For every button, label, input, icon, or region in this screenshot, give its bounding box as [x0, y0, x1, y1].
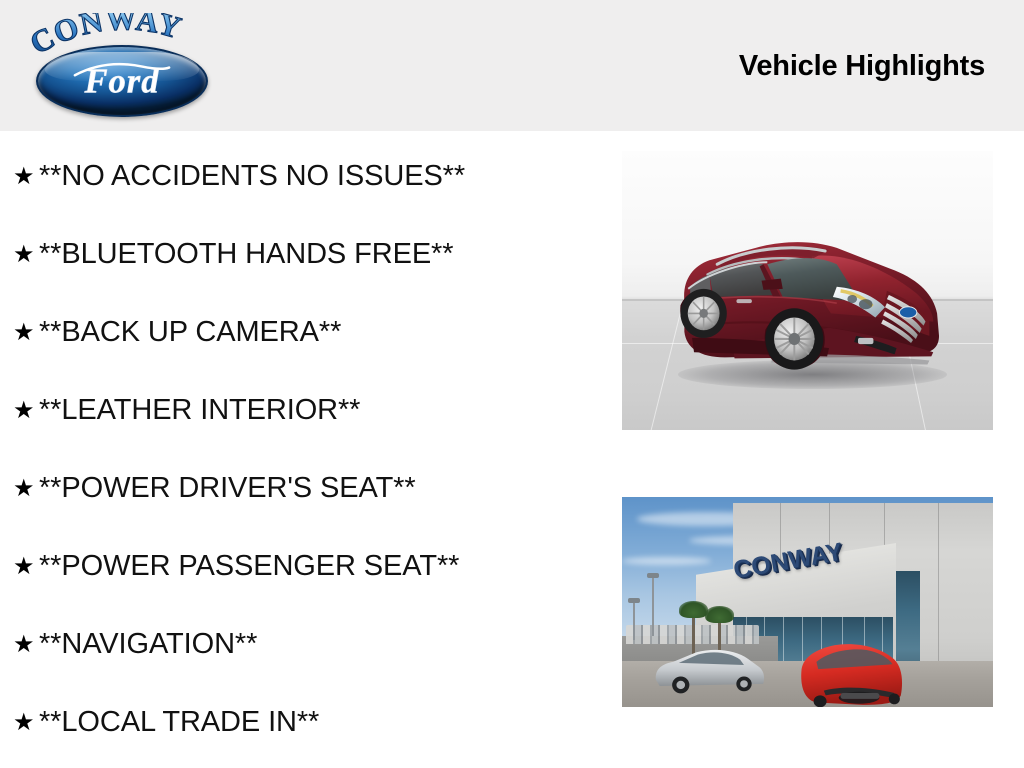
highlight-label: **BLUETOOTH HANDS FREE**	[39, 239, 453, 271]
list-item: ★ **BLUETOOTH HANDS FREE**	[0, 216, 600, 294]
star-icon: ★	[13, 477, 39, 501]
star-icon: ★	[13, 243, 39, 267]
list-item: ★ **LEATHER INTERIOR**	[0, 372, 600, 450]
star-icon: ★	[13, 555, 39, 579]
list-item: ★ **LOCAL TRADE IN**	[0, 684, 600, 762]
vehicle-photo[interactable]	[622, 151, 993, 430]
highlight-label: **NO ACCIDENTS NO ISSUES**	[39, 161, 465, 193]
ford-escape-suv	[667, 207, 956, 391]
vehicle-highlights-page: CONWAY Ford Vehicle Highlights	[0, 0, 1024, 768]
red-sedan	[796, 638, 907, 707]
highlight-label: **LEATHER INTERIOR**	[39, 395, 360, 427]
vehicle-highlights-list: ★ **NO ACCIDENTS NO ISSUES** ★ **BLUETOO…	[0, 138, 600, 762]
conway-ford-logo[interactable]: CONWAY Ford	[22, 13, 218, 117]
list-item: ★ **BACK UP CAMERA**	[0, 294, 600, 372]
list-item: ★ **NAVIGATION**	[0, 606, 600, 684]
highlight-label: **LOCAL TRADE IN**	[39, 707, 319, 739]
light-pole-icon	[633, 602, 635, 640]
svg-text:CONWAY: CONWAY	[24, 13, 186, 61]
page-content: ★ **NO ACCIDENTS NO ISSUES** ★ **BLUETOO…	[0, 131, 1024, 768]
star-icon: ★	[13, 633, 39, 657]
dealership-photo[interactable]: CONWAY	[622, 497, 993, 707]
highlight-label: **POWER PASSENGER SEAT**	[39, 551, 459, 583]
highlight-label: **POWER DRIVER'S SEAT**	[39, 473, 416, 505]
star-icon: ★	[13, 711, 39, 735]
page-header: CONWAY Ford Vehicle Highlights	[0, 0, 1024, 131]
list-item: ★ **POWER DRIVER'S SEAT**	[0, 450, 600, 528]
conway-wordmark-icon: CONWAY	[22, 13, 218, 61]
list-item: ★ **NO ACCIDENTS NO ISSUES**	[0, 138, 600, 216]
highlight-label: **BACK UP CAMERA**	[39, 317, 341, 349]
star-icon: ★	[13, 321, 39, 345]
star-icon: ★	[13, 399, 39, 423]
list-item: ★ **POWER PASSENGER SEAT**	[0, 528, 600, 606]
silver-sedan	[652, 644, 767, 694]
star-icon: ★	[13, 165, 39, 189]
light-pole-icon	[652, 577, 654, 636]
highlight-label: **NAVIGATION**	[39, 629, 257, 661]
page-title: Vehicle Highlights	[739, 50, 985, 83]
